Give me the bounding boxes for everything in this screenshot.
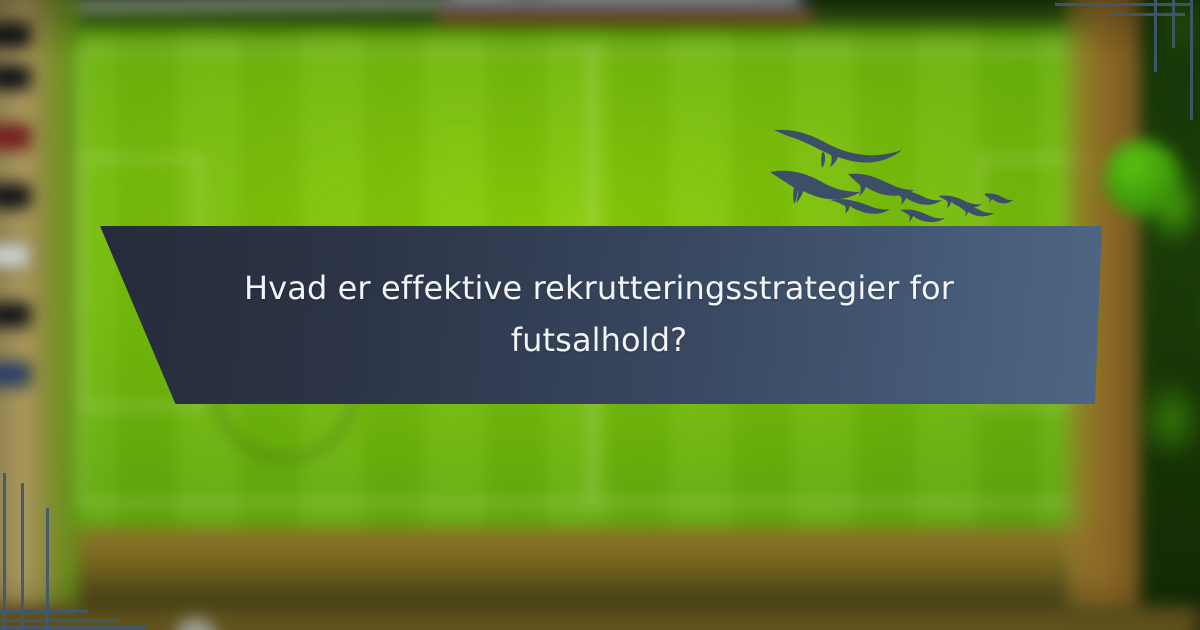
deco-line-top-v1 bbox=[1154, 0, 1157, 72]
deco-line-top-v3 bbox=[1190, 0, 1193, 120]
flying-birds-silhouette-flock bbox=[762, 112, 1022, 230]
headline-banner: Hvad er effektive rekrutteringsstrategie… bbox=[96, 226, 1102, 404]
deco-line-top-v2 bbox=[1172, 0, 1175, 48]
deco-line-bottom-h1 bbox=[0, 610, 88, 613]
deco-line-bottom-h3 bbox=[0, 626, 147, 629]
deco-line-bottom-v1 bbox=[3, 473, 6, 630]
header-card: Hvad er effektive rekrutteringsstrategie… bbox=[0, 0, 1200, 630]
deco-line-bottom-v2 bbox=[21, 483, 24, 630]
page-title: Hvad er effektive rekrutteringsstrategie… bbox=[204, 263, 994, 367]
deco-line-bottom-h2 bbox=[0, 619, 118, 622]
headline-banner-inner: Hvad er effektive rekrutteringsstrategie… bbox=[204, 263, 994, 367]
